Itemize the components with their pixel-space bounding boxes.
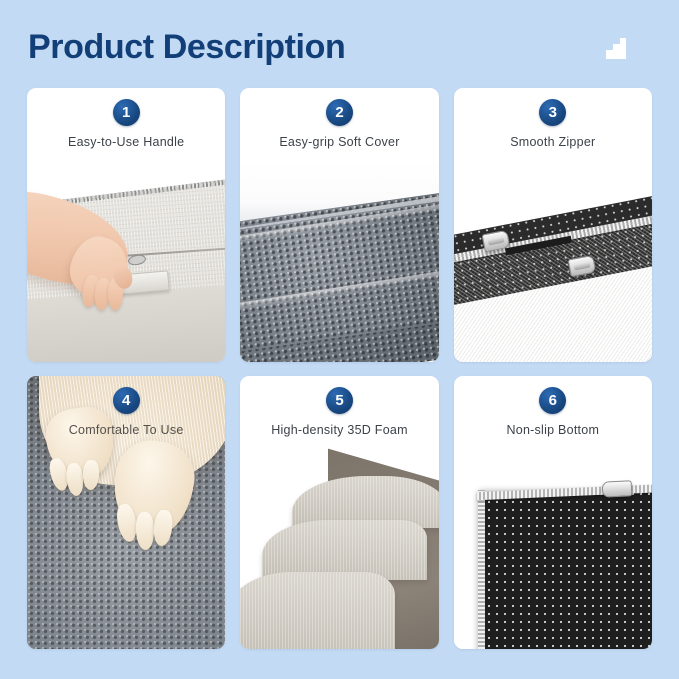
black-dotted-nonslip-bottom-photo xyxy=(454,448,652,650)
feature-card-5[interactable]: 5 High-density 35D Foam xyxy=(240,376,438,650)
card-header-3: 3 Smooth Zipper xyxy=(454,88,652,160)
card-label-1: Easy-to-Use Handle xyxy=(68,135,184,149)
feature-card-grid: 1 Easy-to-Use Handle 2 Easy-grip Soft Co… xyxy=(27,88,652,649)
card-header-5: 5 High-density 35D Foam xyxy=(240,376,438,448)
feature-card-6[interactable]: 6 Non-slip Bottom xyxy=(454,376,652,650)
card-label-6: Non-slip Bottom xyxy=(506,423,599,437)
page-header: Product Description xyxy=(28,22,651,74)
feature-card-4[interactable]: 4 Comfortable To Use xyxy=(27,376,225,650)
step-badge-2: 2 xyxy=(326,99,353,126)
feature-card-1[interactable]: 1 Easy-to-Use Handle xyxy=(27,88,225,362)
feature-card-2[interactable]: 2 Easy-grip Soft Cover xyxy=(240,88,438,362)
feature-card-3[interactable]: 3 Smooth Zipper xyxy=(454,88,652,362)
card-label-4: Comfortable To Use xyxy=(69,423,184,437)
hand-gripping-handle-photo xyxy=(27,160,225,362)
step-badge-6: 6 xyxy=(539,387,566,414)
card-label-3: Smooth Zipper xyxy=(510,135,595,149)
step-badge-3: 3 xyxy=(539,99,566,126)
card-header-2: 2 Easy-grip Soft Cover xyxy=(240,88,438,160)
step-badge-4: 4 xyxy=(113,387,140,414)
step-badge-1: 1 xyxy=(113,99,140,126)
stairs-icon xyxy=(603,36,629,60)
step-badge-5: 5 xyxy=(326,387,353,414)
gray-bubble-fleece-fabric-photo xyxy=(240,160,438,362)
card-label-5: High-density 35D Foam xyxy=(271,423,408,437)
page-title: Product Description xyxy=(28,22,651,72)
card-header-1: 1 Easy-to-Use Handle xyxy=(27,88,225,160)
double-zipper-closeup-photo xyxy=(454,160,652,362)
zipper-slider-icon xyxy=(602,480,633,498)
card-label-2: Easy-grip Soft Cover xyxy=(279,135,399,149)
card-header-4: 4 Comfortable To Use xyxy=(27,376,225,448)
foam-pet-stairs-photo xyxy=(240,448,438,650)
card-header-6: 6 Non-slip Bottom xyxy=(454,376,652,448)
